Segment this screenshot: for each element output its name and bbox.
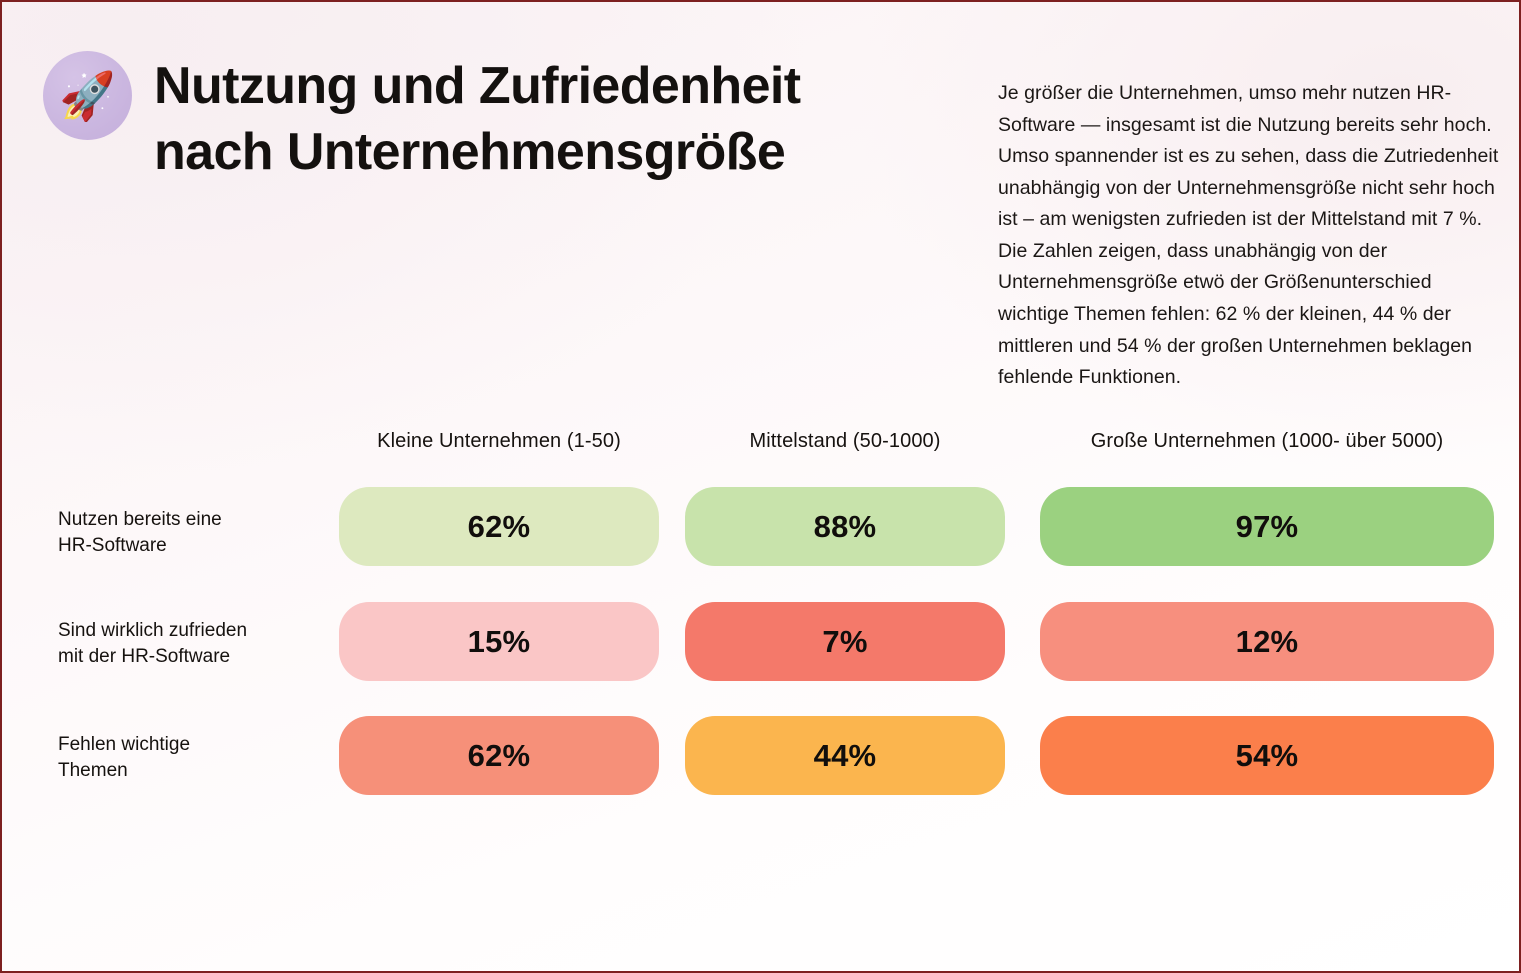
infographic-page: 🚀 Nutzung und Zufriedenheit nach Unterne…	[0, 0, 1521, 973]
cell-zufriedenheit-gross[interactable]: 12%	[1040, 602, 1494, 681]
cell-zufriedenheit-mittel[interactable]: 7%	[685, 602, 1005, 681]
cell-fehlende-themen-mittel[interactable]: 44%	[685, 716, 1005, 795]
rocket-icon: 🚀	[58, 72, 117, 120]
row-label-fehlende-themen: Fehlen wichtige Themen	[58, 732, 328, 784]
row-label-zufriedenheit: Sind wirklich zufrieden mit der HR-Softw…	[58, 618, 328, 670]
page-title: Nutzung und Zufriedenheit nach Unternehm…	[154, 54, 800, 185]
cell-zufriedenheit-klein[interactable]: 15%	[339, 602, 659, 681]
page-header: 🚀 Nutzung und Zufriedenheit nach Unterne…	[43, 48, 800, 185]
cell-nutzung-mittel[interactable]: 88%	[685, 487, 1005, 566]
intro-paragraph: Je größer die Unternehmen, umso mehr nut…	[998, 78, 1506, 394]
cell-fehlende-themen-klein[interactable]: 62%	[339, 716, 659, 795]
cell-fehlende-themen-gross[interactable]: 54%	[1040, 716, 1494, 795]
rocket-badge: 🚀	[43, 51, 132, 140]
column-header-mittelstand: Mittelstand (50-1000)	[685, 430, 1005, 453]
column-header-kleine-unternehmen: Kleine Unternehmen (1-50)	[339, 430, 659, 453]
row-label-nutzung: Nutzen bereits eine HR-Software	[58, 507, 328, 559]
cell-nutzung-klein[interactable]: 62%	[339, 487, 659, 566]
column-header-grosse-unternehmen: Große Unternehmen (1000- über 5000)	[1040, 430, 1494, 453]
column-header-row: Kleine Unternehmen (1-50) Mittelstand (5…	[2, 430, 1521, 460]
cell-nutzung-gross[interactable]: 97%	[1040, 487, 1494, 566]
